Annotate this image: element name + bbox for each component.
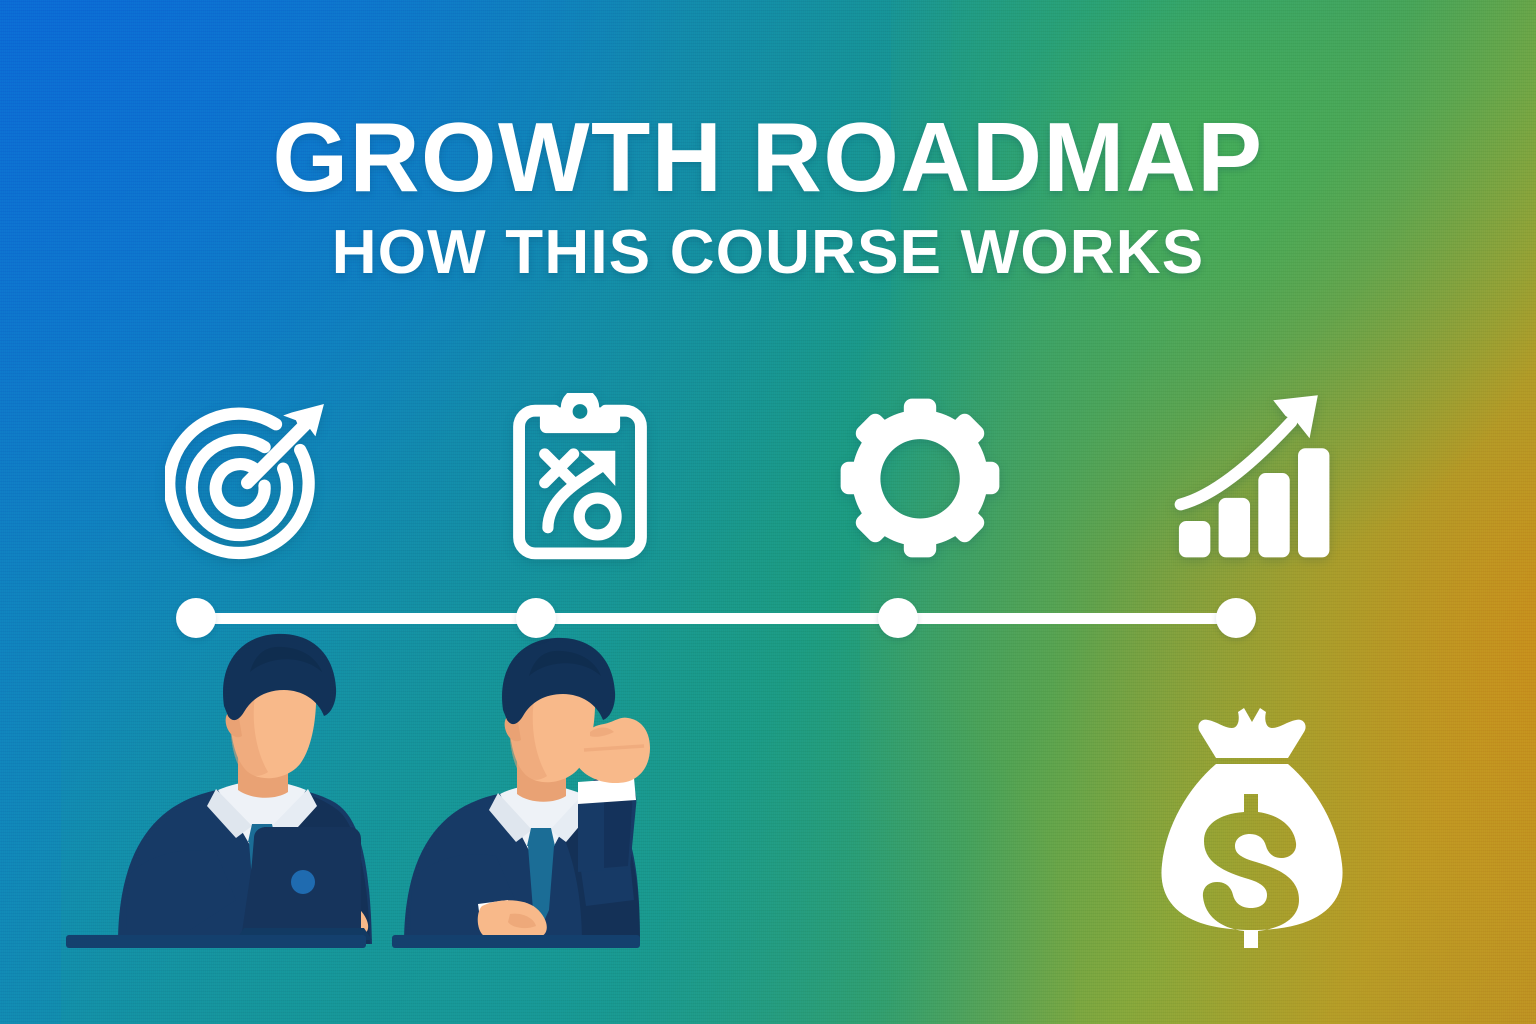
growth-chart-icon[interactable] — [1155, 378, 1355, 578]
slide-canvas: GROWTH ROADMAP HOW THIS COURSE WORKS — [0, 0, 1536, 1024]
icon-row — [110, 378, 1370, 578]
timeline-node-3[interactable] — [878, 598, 918, 638]
page-subtitle: HOW THIS COURSE WORKS — [0, 222, 1536, 284]
timeline — [176, 598, 1256, 638]
page-title: GROWTH ROADMAP — [8, 108, 1529, 206]
timeline-node-4[interactable] — [1216, 598, 1256, 638]
clipboard-strategy-icon[interactable] — [480, 378, 680, 578]
timeline-track — [186, 613, 1246, 624]
background-teal-glow — [61, 512, 1075, 1024]
timeline-node-1[interactable] — [176, 598, 216, 638]
title-block: GROWTH ROADMAP HOW THIS COURSE WORKS — [0, 108, 1536, 284]
timeline-node-2[interactable] — [516, 598, 556, 638]
gear-icon[interactable] — [820, 378, 1020, 578]
target-icon[interactable] — [150, 378, 350, 578]
